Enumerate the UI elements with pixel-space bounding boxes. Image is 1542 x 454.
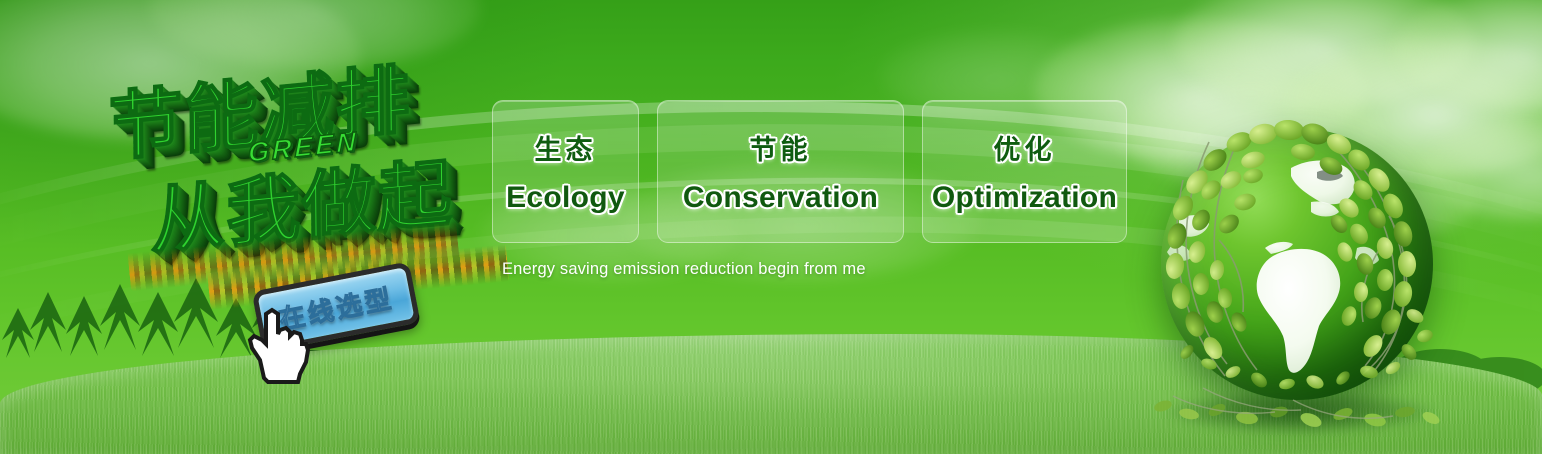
leaf-debris [1143, 366, 1453, 436]
feature-card-title-en: Conservation [683, 181, 878, 215]
ivy-covered-globe-icon [1143, 118, 1453, 436]
feature-card-title-cn: 优化 [994, 128, 1056, 167]
green-energy-banner: 节能减排 GREEN 从我做起 在线选型 生态 Ecology 节能 Conse… [0, 0, 1542, 454]
globe-sphere [1161, 128, 1433, 400]
globe-continents [1161, 128, 1433, 400]
feature-card-title-cn: 节能 [750, 128, 812, 167]
feature-card-ecology[interactable]: 生态 Ecology [492, 100, 639, 243]
banner-tagline: Energy saving emission reduction begin f… [502, 260, 866, 279]
feature-card-title-en: Optimization [932, 181, 1117, 215]
feature-card-conservation[interactable]: 节能 Conservation [657, 100, 904, 243]
feature-card-title-cn: 生态 [535, 128, 597, 167]
hand-pointer-icon [242, 300, 314, 384]
feature-card-optimization[interactable]: 优化 Optimization [922, 100, 1127, 243]
headline-logo: 节能减排 GREEN 从我做起 [96, 36, 480, 266]
feature-card-list: 生态 Ecology 节能 Conservation 优化 Optimizati… [492, 100, 1127, 243]
feature-card-title-en: Ecology [506, 181, 625, 215]
